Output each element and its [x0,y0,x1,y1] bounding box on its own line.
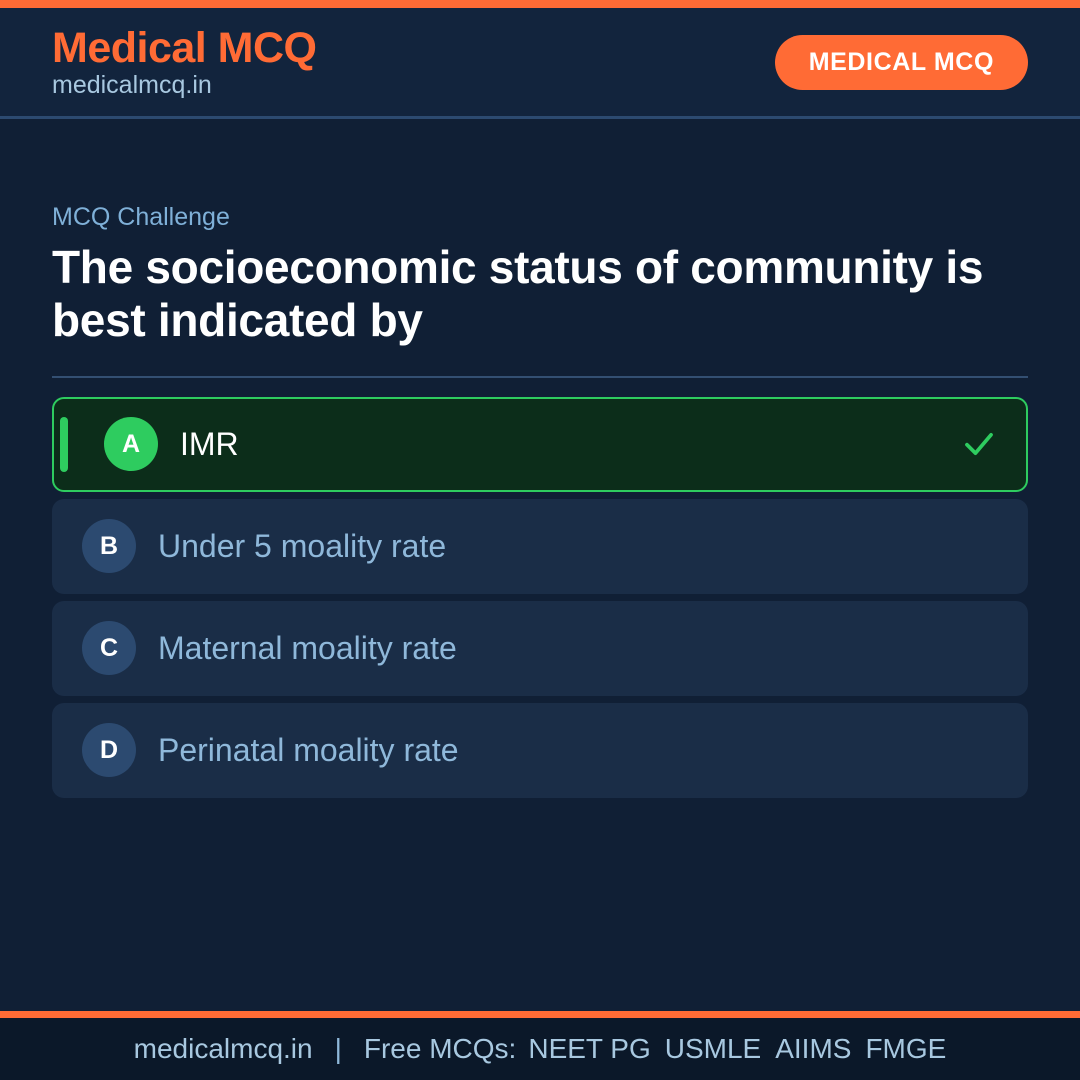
footer-exam-aiims[interactable]: AIIMS [775,1033,851,1065]
option-d-letter: D [82,723,136,777]
page-footer: medicalmcq.in | Free MCQs: NEET PG USMLE… [0,1018,1080,1080]
option-d[interactable]: D Perinatal moality rate [52,703,1028,798]
footer-label: Free MCQs: [364,1033,516,1065]
question-text: The socioeconomic status of community is… [52,241,1012,348]
footer-separator: | [335,1033,342,1065]
option-b-text: Under 5 moality rate [158,529,998,564]
brand-block: Medical MCQ medicalmcq.in [52,26,317,99]
eyebrow-label: MCQ Challenge [52,204,1028,232]
brand-title: Medical MCQ [52,26,317,71]
option-a[interactable]: A IMR [52,397,1028,492]
option-b-letter: B [82,519,136,573]
options-list: A IMR B Under 5 moality rate C Maternal … [52,397,1028,798]
option-d-text: Perinatal moality rate [158,733,998,768]
option-a-text: IMR [180,427,962,462]
main-content: MCQ Challenge The socioeconomic status o… [0,119,1080,1011]
footer-exam-usmle[interactable]: USMLE [665,1033,761,1065]
top-accent-bar [0,0,1080,8]
option-c[interactable]: C Maternal moality rate [52,601,1028,696]
footer-exam-fmge[interactable]: FMGE [865,1033,946,1065]
footer-accent-bar [0,1011,1080,1018]
check-icon [962,427,996,461]
option-b[interactable]: B Under 5 moality rate [52,499,1028,594]
option-c-letter: C [82,621,136,675]
footer-exam-neet-pg[interactable]: NEET PG [528,1033,650,1065]
correct-accent-bar [60,417,68,472]
option-a-letter: A [104,417,158,471]
brand-subtitle: medicalmcq.in [52,72,317,98]
question-divider [52,376,1028,378]
footer-site-link[interactable]: medicalmcq.in [134,1033,313,1065]
header-badge[interactable]: MEDICAL MCQ [775,35,1028,90]
option-c-text: Maternal moality rate [158,631,998,666]
footer-inner: medicalmcq.in | Free MCQs: NEET PG USMLE… [134,1033,947,1065]
page-header: Medical MCQ medicalmcq.in MEDICAL MCQ [0,8,1080,119]
